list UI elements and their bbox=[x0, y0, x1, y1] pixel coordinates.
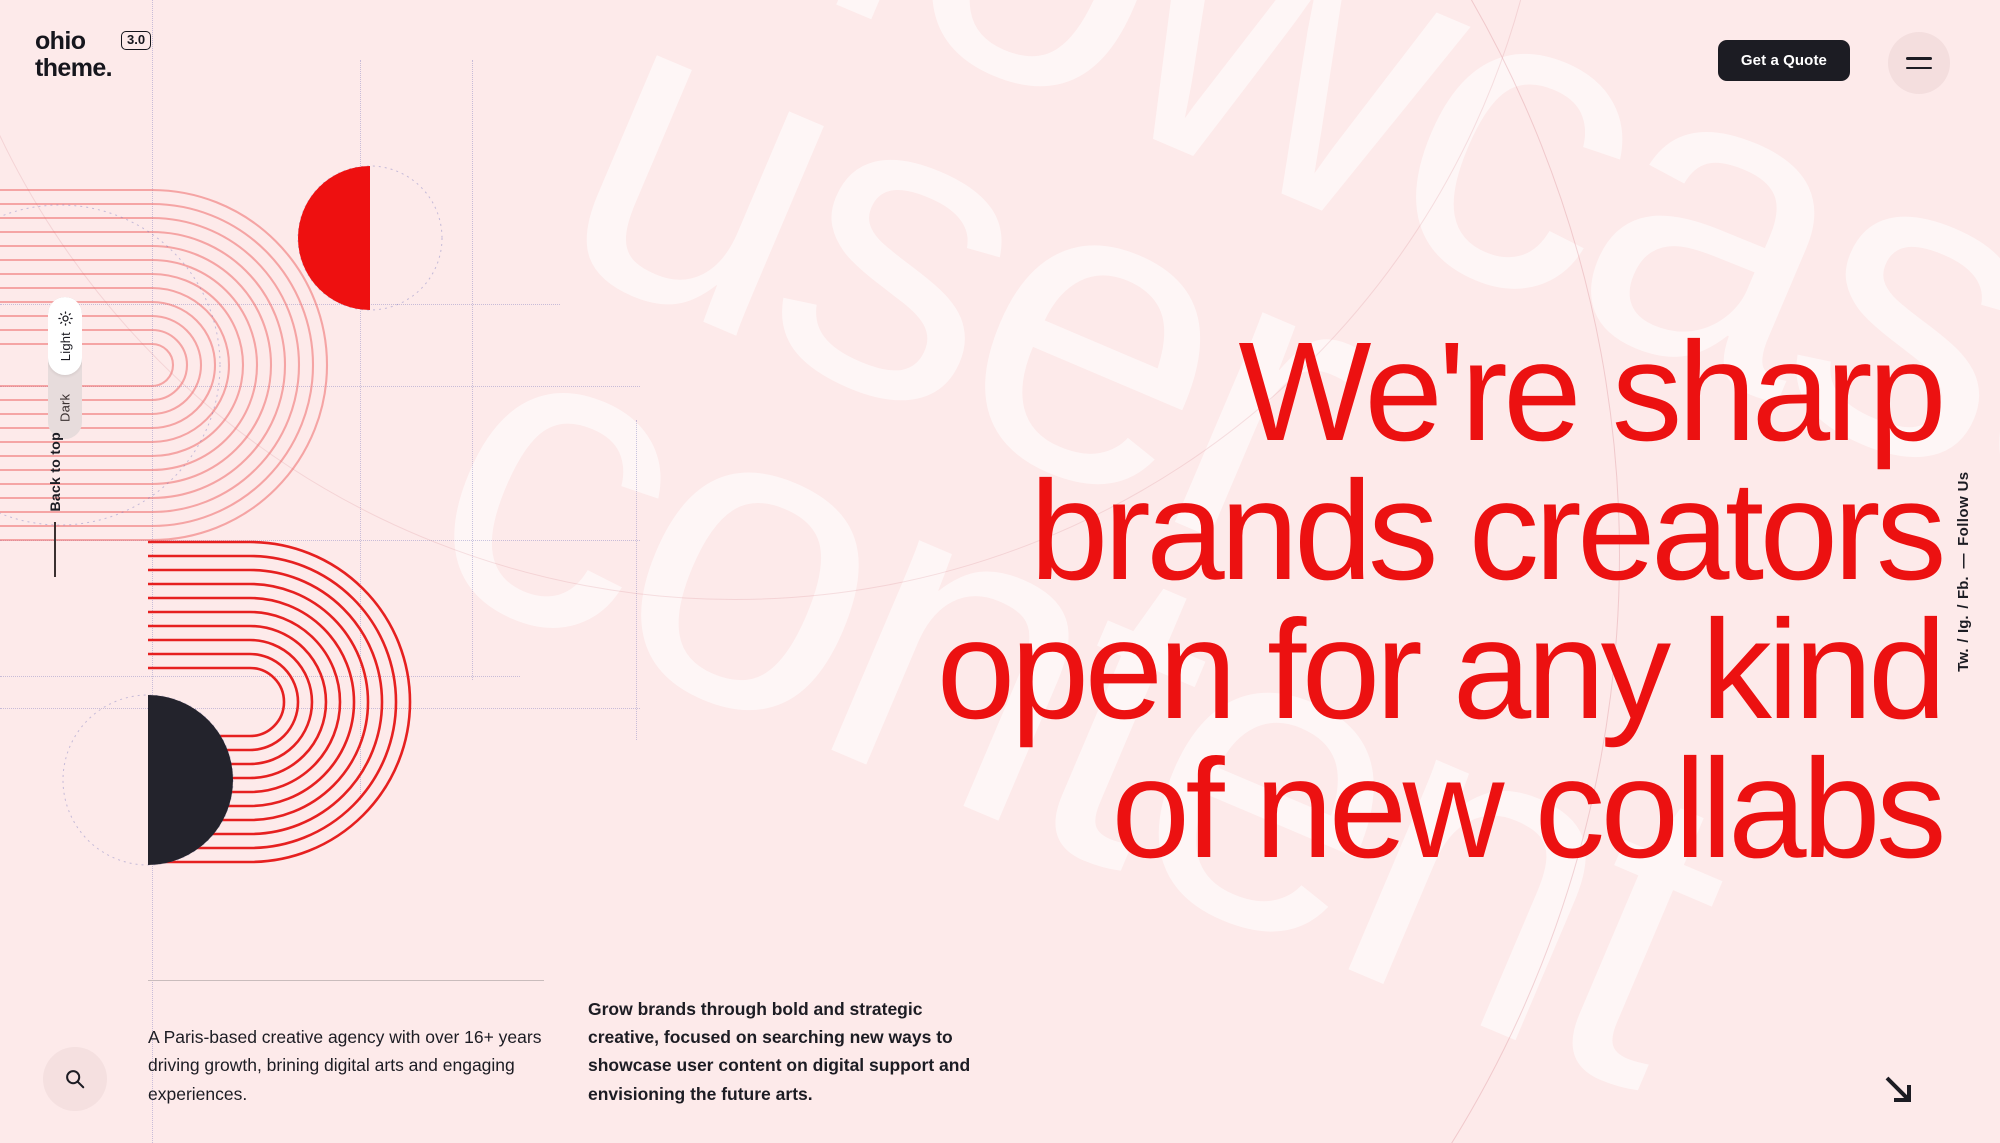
follow-separator: / bbox=[1955, 605, 1972, 609]
guide-line-horizontal bbox=[0, 540, 640, 541]
follow-us-label: Follow Us bbox=[1955, 471, 1972, 545]
page-root: howcase user content bbox=[0, 0, 2000, 1143]
hamburger-line bbox=[1906, 57, 1932, 60]
hamburger-line bbox=[1906, 67, 1932, 70]
search-button[interactable] bbox=[43, 1047, 107, 1111]
guide-line-horizontal bbox=[0, 708, 640, 709]
intro-column-left: A Paris-based creative agency with over … bbox=[148, 980, 548, 1108]
divider-rule bbox=[148, 980, 544, 981]
scroll-down-button[interactable] bbox=[1880, 1071, 1920, 1111]
headline-line-2: brands creators bbox=[622, 461, 1942, 600]
logo-wordmark: ohio theme. bbox=[35, 28, 112, 82]
search-icon bbox=[64, 1068, 86, 1090]
guide-line-vertical bbox=[472, 60, 473, 680]
guide-line-vertical bbox=[152, 0, 153, 1143]
social-link-facebook[interactable]: Fb. bbox=[1955, 576, 1972, 599]
logo[interactable]: ohio theme. 3.0 bbox=[35, 28, 151, 82]
follow-separator: / bbox=[1955, 639, 1972, 643]
headline-line-1: We're sharp bbox=[622, 322, 1942, 461]
sun-icon bbox=[58, 311, 73, 326]
follow-us-dash: — bbox=[1955, 553, 1972, 568]
arrow-down-right-icon bbox=[1880, 1071, 1920, 1111]
decorative-art-lower bbox=[0, 520, 560, 940]
mission-statement-paragraph: Grow brands through bold and strategic c… bbox=[588, 995, 988, 1108]
hamburger-menu-icon[interactable] bbox=[1888, 32, 1950, 94]
intro-column-mid: Grow brands through bold and strategic c… bbox=[588, 995, 988, 1108]
theme-toggle[interactable]: Light Dark bbox=[48, 297, 82, 439]
guide-line-vertical bbox=[360, 60, 361, 800]
social-link-instagram[interactable]: Ig. bbox=[1955, 615, 1972, 633]
back-to-top-line bbox=[54, 522, 56, 577]
theme-toggle-knob[interactable]: Light bbox=[48, 297, 82, 375]
agency-description-paragraph: A Paris-based creative agency with over … bbox=[148, 1023, 548, 1108]
hero-headline: We're sharp brands creators open for any… bbox=[622, 322, 1942, 878]
social-link-twitter[interactable]: Tw. bbox=[1955, 649, 1972, 672]
headline-line-3: open for any kind bbox=[622, 600, 1942, 739]
logo-version-badge: 3.0 bbox=[121, 31, 151, 50]
theme-toggle-active-label: Light bbox=[58, 332, 73, 361]
get-a-quote-button[interactable]: Get a Quote bbox=[1718, 40, 1850, 81]
guide-line-horizontal bbox=[0, 676, 520, 677]
back-to-top-label: Back to top bbox=[47, 432, 63, 512]
guide-line-horizontal bbox=[0, 304, 560, 305]
guide-line-horizontal bbox=[0, 386, 640, 387]
back-to-top-button[interactable]: Back to top bbox=[47, 432, 63, 577]
theme-toggle-inactive-label: Dark bbox=[48, 379, 82, 437]
logo-line-2: theme. bbox=[35, 55, 112, 82]
headline-line-4: of new collabs bbox=[622, 739, 1942, 878]
logo-line-1: ohio bbox=[35, 28, 112, 55]
follow-us-group: Follow Us — Fb. / Ig. / Tw. bbox=[1955, 471, 1972, 672]
decorative-art-upper bbox=[0, 150, 560, 730]
